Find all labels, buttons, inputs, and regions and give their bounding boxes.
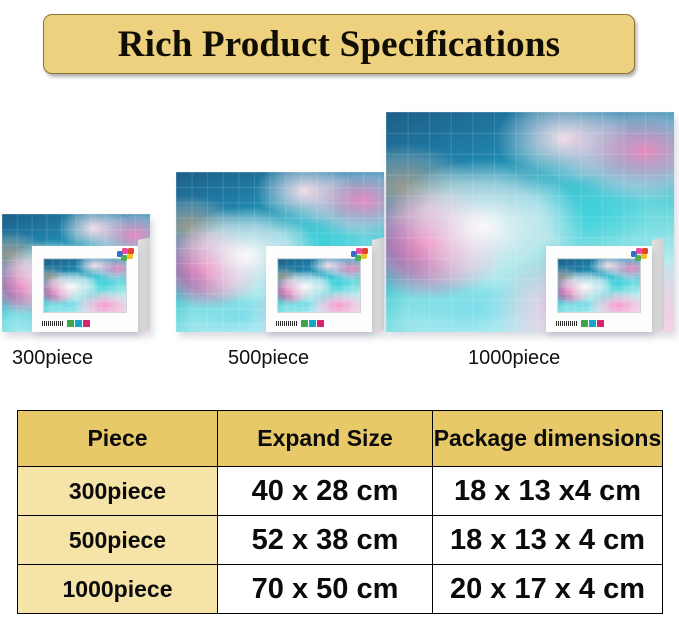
box-front-face xyxy=(32,246,138,332)
puzzle-piece-red xyxy=(362,248,368,254)
cell-piece: 300piece xyxy=(18,467,218,516)
package-box-500piece xyxy=(266,240,384,332)
package-box-1000piece xyxy=(546,240,664,332)
cell-package: 20 x 17 x 4 cm xyxy=(433,565,663,614)
specifications-table: Piece Expand Size Package dimensions 300… xyxy=(17,410,663,614)
cloud-artwork xyxy=(278,259,360,312)
brand-block-cyan xyxy=(309,320,316,327)
box-label-strip xyxy=(556,320,604,327)
puzzle-piece-red xyxy=(128,248,134,254)
box-label-strip xyxy=(42,320,90,327)
puzzle-piece-green xyxy=(635,255,641,261)
product-showcase: 300piece 500piece 1000piece xyxy=(0,100,679,370)
box-side-panel xyxy=(372,237,384,332)
product-group-300piece xyxy=(2,214,150,332)
table-row: 1000piece 70 x 50 cm 20 x 17 x 4 cm xyxy=(18,565,663,614)
table-header-row: Piece Expand Size Package dimensions xyxy=(18,411,663,467)
cell-expand: 52 x 38 cm xyxy=(218,516,433,565)
brand-block-magenta xyxy=(317,320,324,327)
puzzle-pieces-icon xyxy=(350,247,370,263)
brand-block-green xyxy=(301,320,308,327)
brand-block-green xyxy=(581,320,588,327)
column-header-package: Package dimensions xyxy=(433,411,663,467)
puzzle-pieces-icon xyxy=(116,247,136,263)
brand-block-cyan xyxy=(75,320,82,327)
cloud-artwork xyxy=(44,259,126,312)
puzzle-piece-green xyxy=(355,255,361,261)
product-group-500piece xyxy=(176,172,384,332)
brand-block-magenta xyxy=(597,320,604,327)
barcode-icon xyxy=(556,321,578,326)
box-label-strip xyxy=(276,320,324,327)
puzzle-piece-green xyxy=(121,255,127,261)
cell-piece: 500piece xyxy=(18,516,218,565)
table-row: 300piece 40 x 28 cm 18 x 13 x4 cm xyxy=(18,467,663,516)
box-front-face xyxy=(546,246,652,332)
box-artwork-window xyxy=(43,258,127,313)
table-row: 500piece 52 x 38 cm 18 x 13 x 4 cm xyxy=(18,516,663,565)
brand-block-cyan xyxy=(589,320,596,327)
puzzle-pieces-icon xyxy=(630,247,650,263)
product-group-1000piece xyxy=(386,112,674,332)
box-artwork-window xyxy=(557,258,641,313)
page-title: Rich Product Specifications xyxy=(118,23,561,66)
box-artwork-window xyxy=(277,258,361,313)
barcode-icon xyxy=(276,321,298,326)
box-front-face xyxy=(266,246,372,332)
brand-block-green xyxy=(67,320,74,327)
cell-package: 18 x 13 x4 cm xyxy=(433,467,663,516)
package-box-300piece xyxy=(32,240,150,332)
brand-color-blocks xyxy=(301,320,324,327)
brand-block-magenta xyxy=(83,320,90,327)
brand-color-blocks xyxy=(67,320,90,327)
cell-package: 18 x 13 x 4 cm xyxy=(433,516,663,565)
cell-expand: 70 x 50 cm xyxy=(218,565,433,614)
cell-piece: 1000piece xyxy=(18,565,218,614)
page-title-banner: Rich Product Specifications xyxy=(43,14,635,74)
barcode-icon xyxy=(42,321,64,326)
column-header-expand: Expand Size xyxy=(218,411,433,467)
box-side-panel xyxy=(652,237,664,332)
column-header-piece: Piece xyxy=(18,411,218,467)
box-side-panel xyxy=(138,237,150,332)
product-caption-300piece: 300piece xyxy=(12,347,93,370)
cloud-artwork xyxy=(558,259,640,312)
brand-color-blocks xyxy=(581,320,604,327)
cell-expand: 40 x 28 cm xyxy=(218,467,433,516)
puzzle-piece-red xyxy=(642,248,648,254)
product-caption-500piece: 500piece xyxy=(228,347,309,370)
product-caption-1000piece: 1000piece xyxy=(468,347,560,370)
